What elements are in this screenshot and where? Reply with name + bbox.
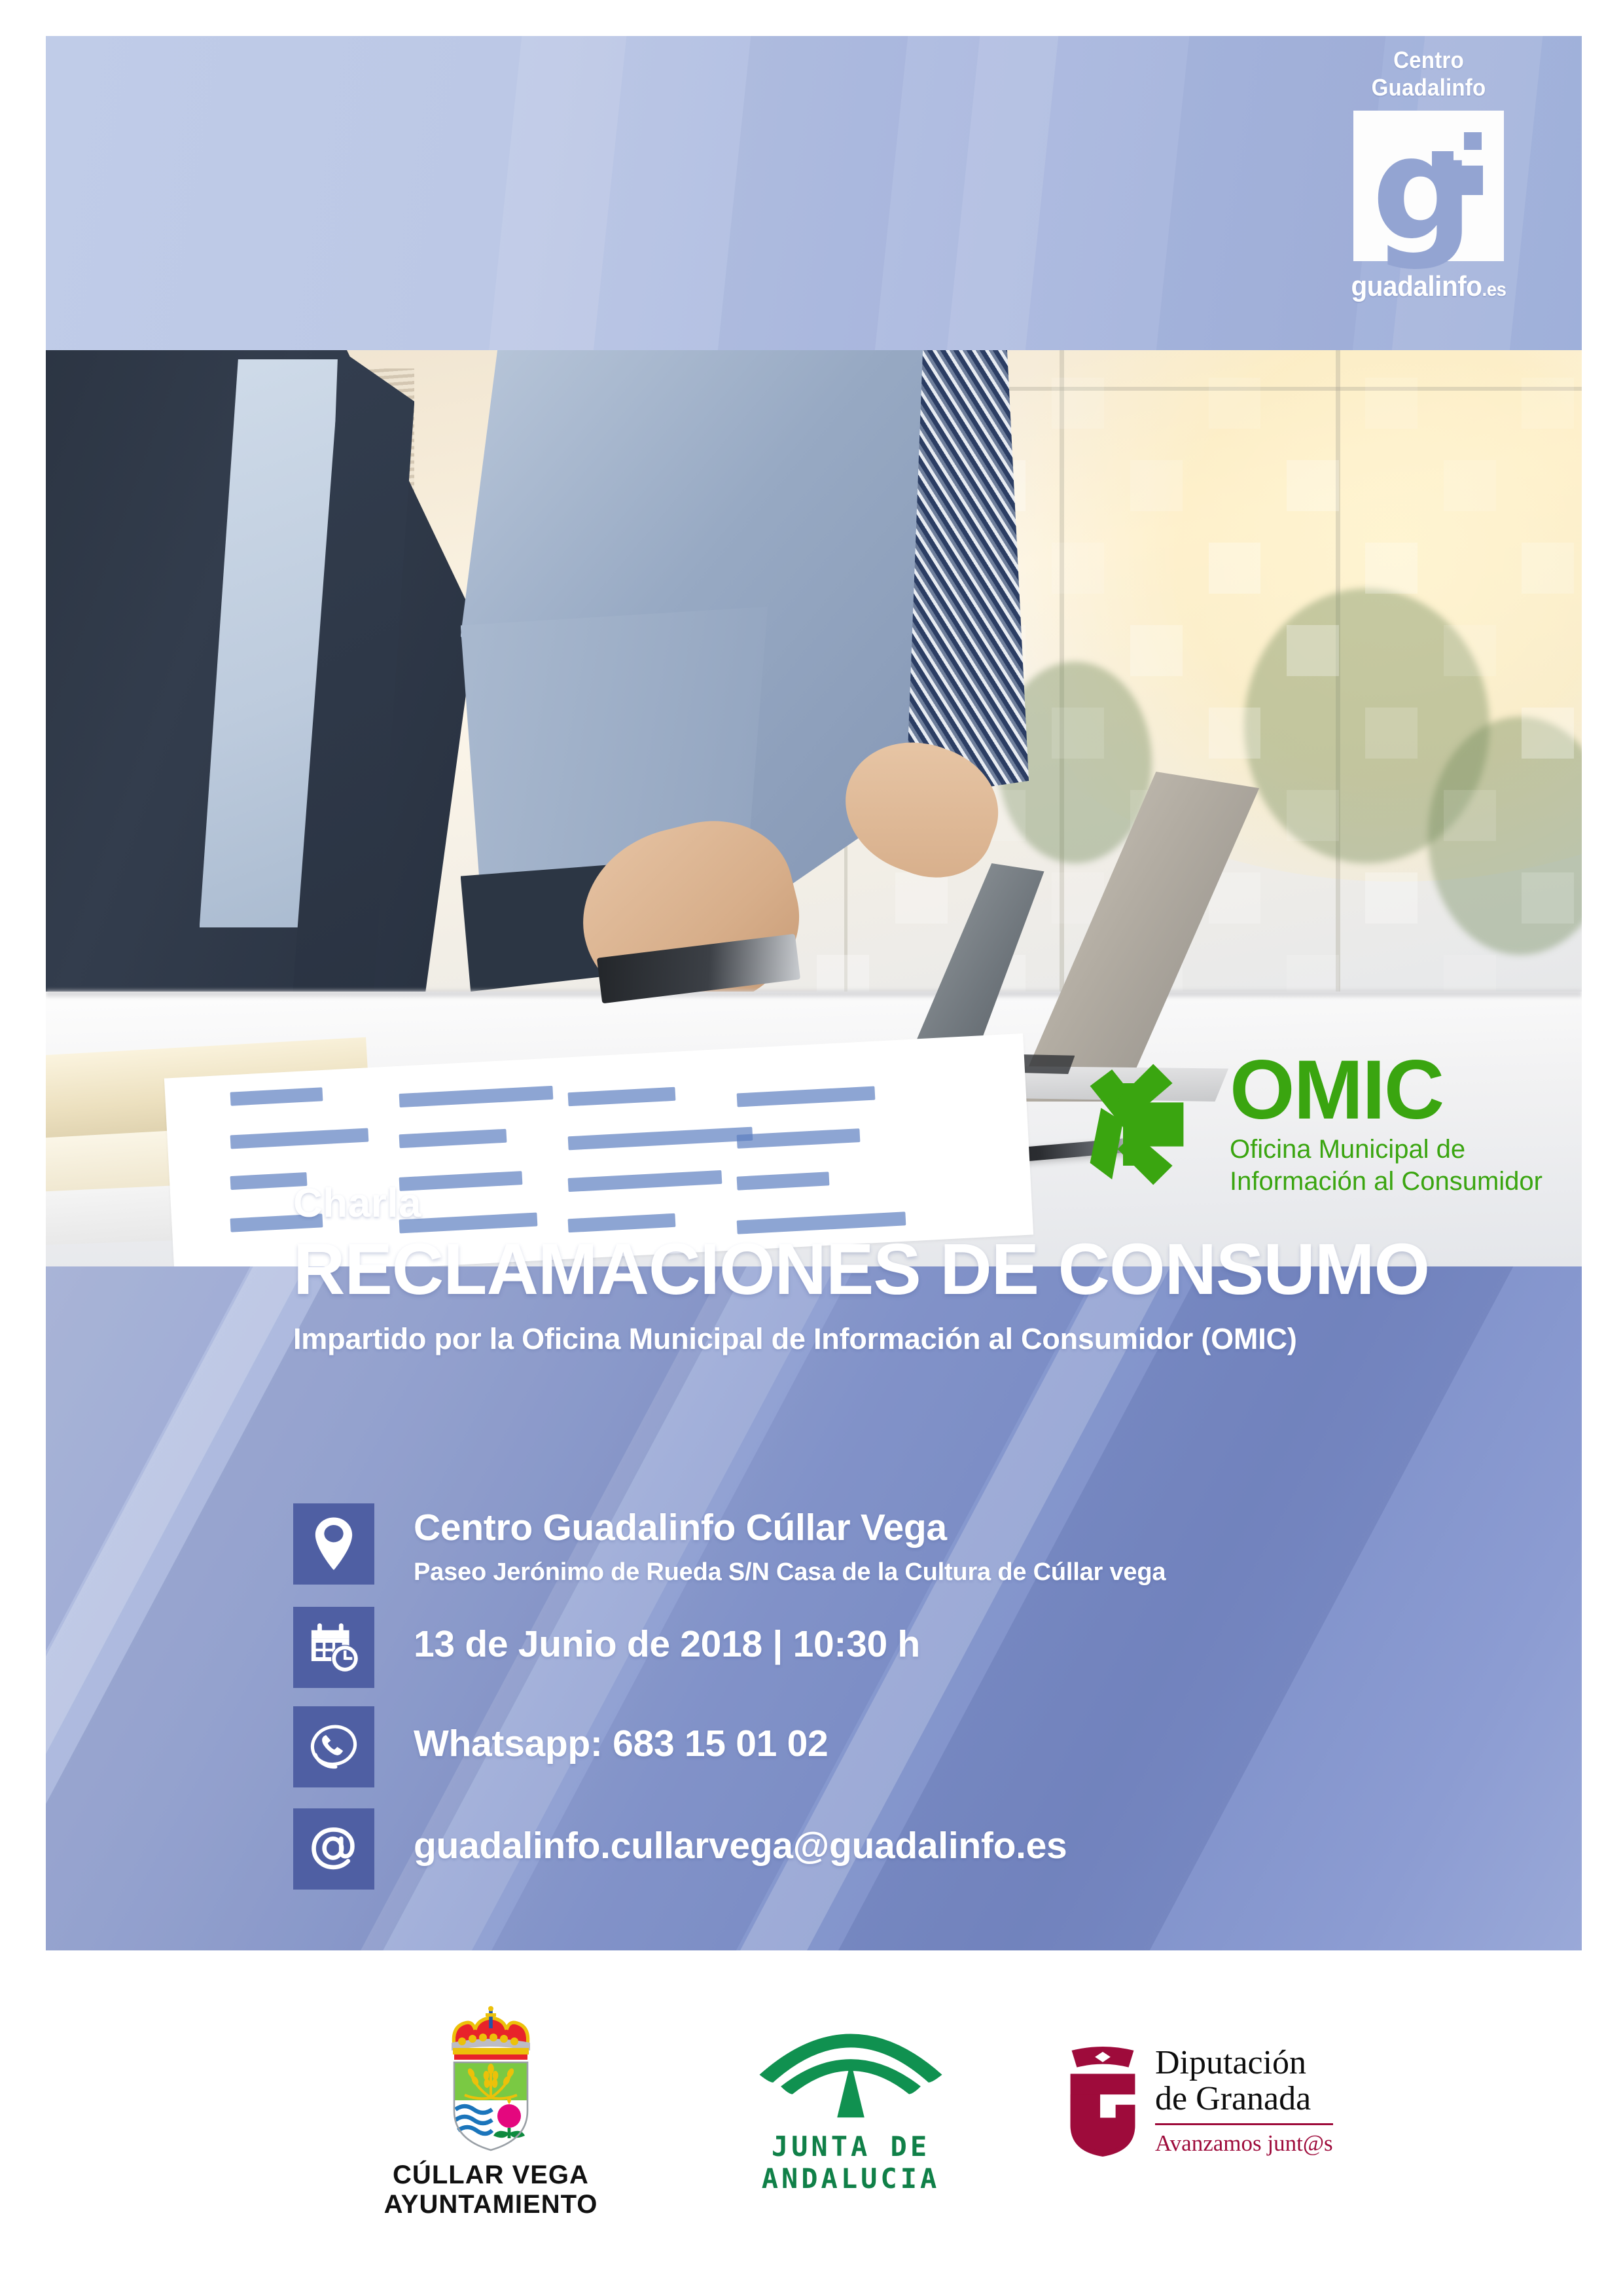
info-content: Charla RECLAMACIONES DE CONSUMO Impartid… [46, 36, 1582, 1950]
info-row-location: Centro Guadalinfo Cúllar Vega Paseo Jeró… [293, 1503, 1166, 1587]
cullar-vega-subtitle: AYUNTAMIENTO [366, 2190, 615, 2219]
diputacion-granada-logo: Diputación de Granada Avanzamos junt@s [1063, 2045, 1404, 2157]
poster-canvas: Centro Guadalinfo g guadalinfo.es [46, 36, 1582, 1950]
footer-logos: CÚLLAR VEGA AYUNTAMIENTO JUNTA DE ANDALU… [0, 1954, 1623, 2296]
junta-andalucia-wordmark: JUNTA DE ANDALUCIA [690, 2130, 1011, 2195]
datetime-text: 13 de Junio de 2018 | 10:30 h [414, 1607, 920, 1666]
event-title: RECLAMACIONES DE CONSUMO [293, 1234, 1429, 1306]
location-text: Centro Guadalinfo Cúllar Vega Paseo Jeró… [414, 1503, 1166, 1587]
event-datetime: 13 de Junio de 2018 | 10:30 h [414, 1624, 920, 1666]
phone-icon [293, 1706, 374, 1787]
cullar-vega-name: CÚLLAR VEGA [366, 2161, 615, 2190]
info-row-email: guadalinfo.cullarvega@guadalinfo.es [293, 1808, 1067, 1890]
info-row-phone: Whatsapp: 683 15 01 02 [293, 1706, 828, 1787]
junta-andalucia-logo: JUNTA DE ANDALUCIA [690, 2005, 1011, 2195]
diputacion-divider [1155, 2123, 1333, 2125]
venue-name: Centro Guadalinfo Cúllar Vega [414, 1507, 1166, 1549]
diputacion-line-2: de Granada [1155, 2081, 1333, 2117]
junta-andalucia-arches-icon [753, 2005, 949, 2129]
email-text: guadalinfo.cullarvega@guadalinfo.es [414, 1808, 1067, 1867]
event-kicker: Charla [293, 1180, 421, 1227]
at-sign-icon [293, 1808, 374, 1890]
location-pin-icon [293, 1503, 374, 1585]
calendar-clock-icon [293, 1607, 374, 1688]
diputacion-granada-wordmark: Diputación de Granada Avanzamos junt@s [1155, 2045, 1333, 2157]
whatsapp-number: Whatsapp: 683 15 01 02 [414, 1723, 828, 1765]
diputacion-line-1: Diputación [1155, 2045, 1333, 2081]
event-subtitle: Impartido por la Oficina Municipal de In… [293, 1322, 1297, 1356]
diputacion-tagline: Avanzamos junt@s [1155, 2130, 1333, 2157]
cullar-vega-coat-of-arms [425, 2006, 556, 2157]
info-row-datetime: 13 de Junio de 2018 | 10:30 h [293, 1607, 920, 1688]
email-address: guadalinfo.cullarvega@guadalinfo.es [414, 1825, 1067, 1867]
phone-text: Whatsapp: 683 15 01 02 [414, 1706, 828, 1765]
diputacion-granada-g-mark [1063, 2045, 1142, 2157]
cullar-vega-logo: CÚLLAR VEGA AYUNTAMIENTO [366, 2006, 615, 2219]
venue-address: Paseo Jerónimo de Rueda S/N Casa de la C… [414, 1558, 1166, 1587]
